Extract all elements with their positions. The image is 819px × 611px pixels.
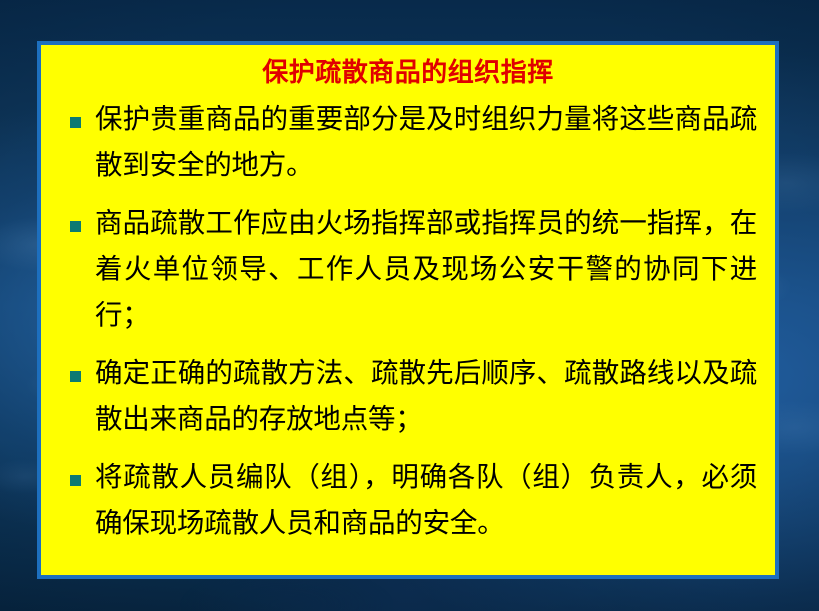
list-item: 商品疏散工作应由火场指挥部或指挥员的统一指挥，在着火单位领导、工作人员及现场公安… bbox=[59, 200, 757, 338]
square-bullet-icon bbox=[70, 117, 81, 128]
page-title: 保护疏散商品的组织指挥 bbox=[59, 56, 757, 90]
list-item: 将疏散人员编队（组），明确各队（组）负责人，必须确保现场疏散人员和商品的安全。 bbox=[59, 454, 757, 546]
square-bullet-icon bbox=[70, 371, 81, 382]
list-item-text: 确定正确的疏散方法、疏散先后顺序、疏散路线以及疏散出来商品的存放地点等； bbox=[95, 350, 757, 442]
list-item-text: 将疏散人员编队（组），明确各队（组）负责人，必须确保现场疏散人员和商品的安全。 bbox=[95, 454, 757, 546]
list-item: 保护贵重商品的重要部分是及时组织力量将这些商品疏散到安全的地方。 bbox=[59, 96, 757, 188]
list-item-text: 商品疏散工作应由火场指挥部或指挥员的统一指挥，在着火单位领导、工作人员及现场公安… bbox=[95, 200, 757, 338]
content-panel-inner: 保护疏散商品的组织指挥 保护贵重商品的重要部分是及时组织力量将这些商品疏散到安全… bbox=[41, 45, 775, 575]
bullet-list: 保护贵重商品的重要部分是及时组织力量将这些商品疏散到安全的地方。 商品疏散工作应… bbox=[59, 96, 757, 546]
list-item-text: 保护贵重商品的重要部分是及时组织力量将这些商品疏散到安全的地方。 bbox=[95, 96, 757, 188]
list-item: 确定正确的疏散方法、疏散先后顺序、疏散路线以及疏散出来商品的存放地点等； bbox=[59, 350, 757, 442]
square-bullet-icon bbox=[70, 221, 81, 232]
presentation-slide: 保护疏散商品的组织指挥 保护贵重商品的重要部分是及时组织力量将这些商品疏散到安全… bbox=[0, 0, 819, 611]
content-panel: 保护疏散商品的组织指挥 保护贵重商品的重要部分是及时组织力量将这些商品疏散到安全… bbox=[37, 41, 779, 579]
square-bullet-icon bbox=[70, 475, 81, 486]
